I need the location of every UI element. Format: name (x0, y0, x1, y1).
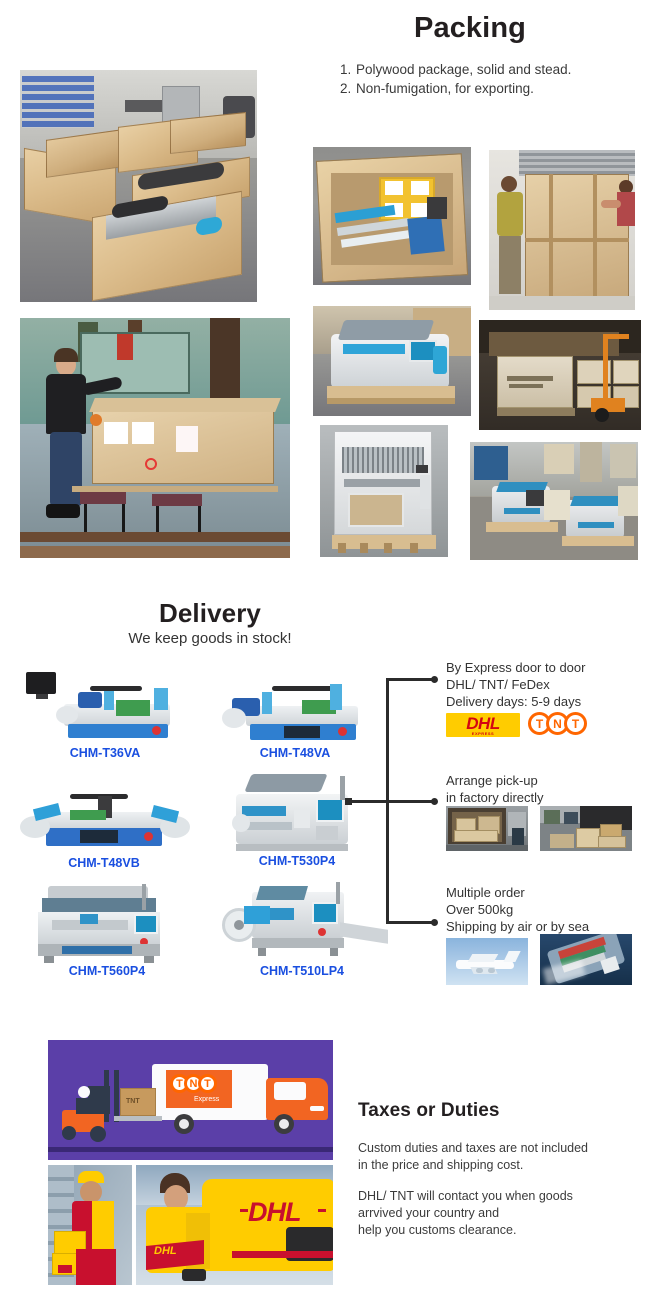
packing-feature-item: 2.Non-fumigation, for exporting. (340, 79, 630, 98)
product-image-chm-t48vb (14, 782, 194, 854)
product-label-chm-t48vb: CHM-T48VB (14, 856, 194, 870)
list-text: Polywood package, solid and stead. (356, 62, 571, 77)
product-chm-t560p4: CHM-T560P4 (22, 878, 192, 982)
bracket-branch-top (386, 678, 434, 681)
bracket-dot-bottom (431, 919, 438, 926)
taxes-paragraph-1-line-2: in the price and shipping cost. (358, 1157, 523, 1174)
product-image-chm-t560p4 (22, 878, 192, 964)
pickup-line-1: Arrange pick-up (446, 772, 538, 789)
taxes-paragraph-2-line-3: help you customs clearance. (358, 1222, 516, 1239)
bracket-branch-bottom (386, 921, 434, 924)
photo-dhl-courier-with-van: DHL DHL (136, 1165, 333, 1285)
photo-woman-with-crate (20, 318, 290, 558)
tnt-box-label: TNT (126, 1098, 140, 1105)
delivery-subtitle: We keep goods in stock! (60, 630, 360, 647)
photo-warehouse-crates (20, 70, 257, 302)
tnt-banner-subtext: Express (194, 1096, 219, 1103)
product-image-chm-t48va (210, 670, 380, 744)
page-title-taxes: Taxes or Duties (358, 1100, 500, 1122)
bulk-line-1: Multiple order (446, 884, 525, 901)
tnt-logo-letter-t2: T (564, 712, 587, 735)
product-label-chm-t510lp4: CHM-T510LP4 (212, 964, 392, 978)
product-image-chm-t36va (20, 670, 190, 744)
dhl-logo-subtext: EXPRESS (472, 732, 494, 736)
packing-feature-list: 1.Polywood package, solid and stead. 2.N… (340, 60, 630, 98)
photo-wrapped-machine (320, 425, 448, 557)
photo-dhl-courier-with-parcels (48, 1165, 132, 1285)
bulk-line-3: Shipping by air or by sea (446, 918, 589, 935)
photo-cargo-airplane (446, 938, 528, 985)
taxes-paragraph-2-line-1: DHL/ TNT will contact you when goods (358, 1188, 573, 1205)
dhl-logo: DHL EXPRESS (446, 713, 520, 737)
taxes-paragraph-1-line-1: Custom duties and taxes are not included (358, 1140, 588, 1157)
product-label-chm-t36va: CHM-T36VA (20, 746, 190, 760)
product-image-chm-t530p4 (212, 770, 382, 854)
product-chm-t510lp4: CHM-T510LP4 (212, 878, 392, 982)
express-line-3: Delivery days: 5-9 days (446, 693, 581, 710)
photo-machine-in-open-crate (313, 147, 471, 285)
promo-page: Packing 1.Polywood package, solid and st… (0, 0, 650, 1306)
photo-crates-on-street (540, 806, 632, 851)
bracket-branch-middle (348, 800, 434, 803)
product-label-chm-t560p4: CHM-T560P4 (22, 964, 192, 978)
tnt-banner-logo: T N T (170, 1074, 212, 1093)
bracket-dot-top (431, 676, 438, 683)
express-line-1: By Express door to door (446, 659, 585, 676)
pickup-line-2: in factory directly (446, 789, 544, 806)
photo-machine-on-pallet (313, 306, 471, 416)
tnt-logo: T N T (528, 712, 582, 735)
photo-machines-in-warehouse (470, 442, 638, 560)
taxes-paragraph-2-line-2: arrvived your country and (358, 1205, 499, 1222)
photo-truck-loaded-crates (446, 806, 528, 851)
express-line-2: DHL/ TNT/ FeDex (446, 676, 550, 693)
dhl-van-logo-text: DHL (248, 1197, 301, 1228)
dhl-logo-text: DHL (466, 715, 499, 732)
list-number: 2. (340, 79, 356, 98)
tnt-express-banner: T N T Express TNT (48, 1040, 333, 1160)
packing-feature-item: 1.Polywood package, solid and stead. (340, 60, 630, 79)
photo-container-ship (540, 934, 632, 985)
bracket-square-middle (345, 798, 352, 805)
product-chm-t48vb: CHM-T48VB (14, 782, 194, 874)
product-label-chm-t530p4: CHM-T530P4 (212, 854, 382, 868)
dhl-photo-pair: DHL DHL (48, 1165, 333, 1285)
page-title-packing: Packing (340, 12, 600, 45)
photo-workers-moving-crate (489, 150, 635, 310)
list-text: Non-fumigation, for exporting. (356, 81, 534, 96)
page-title-delivery: Delivery (100, 598, 320, 629)
product-chm-t48va: CHM-T48VA (210, 670, 380, 762)
product-chm-t36va: CHM-T36VA (20, 670, 190, 762)
product-label-chm-t48va: CHM-T48VA (210, 746, 380, 760)
bulk-line-2: Over 500kg (446, 901, 513, 918)
product-image-chm-t510lp4 (212, 878, 392, 964)
tnt-banner-letter-t2: T (198, 1074, 217, 1093)
product-chm-t530p4: CHM-T530P4 (212, 770, 382, 870)
photo-crates-with-pallet-jack (479, 320, 641, 430)
bracket-dot-middle (431, 798, 438, 805)
dhl-parcel-logo-text: DHL (154, 1245, 177, 1257)
list-number: 1. (340, 60, 356, 79)
